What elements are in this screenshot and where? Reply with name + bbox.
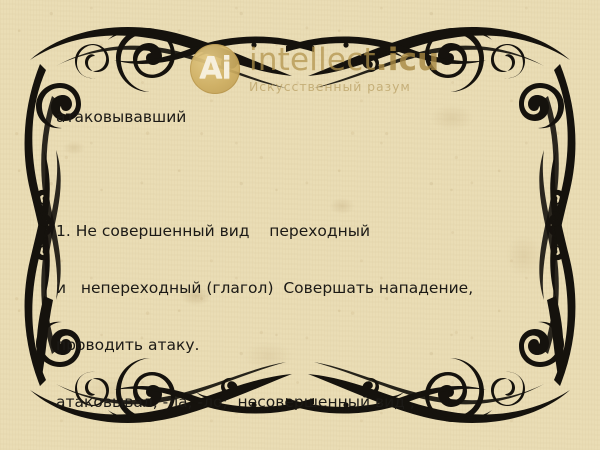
edge-ornament-left (37, 296, 53, 386)
definition-line: и непереходный (глагол) Совершать нападе… (56, 279, 556, 298)
dictionary-article: атаковывавший 1. Не совершенный вид пере… (56, 70, 556, 450)
parchment-page: Ai intellect.icu Искусственный разум ата… (0, 0, 600, 450)
definition-block: 1. Не совершенный вид переходный и непер… (56, 184, 556, 450)
definition-line: проводить атаку. (56, 336, 556, 355)
edge-ornament-top (286, 36, 486, 64)
edge-ornament-top-mirror (114, 36, 314, 64)
definition-line: 1. Не совершенный вид переходный (56, 222, 556, 241)
definition-line: атаковывал, -ла, -ло; несовершенный вид … (56, 393, 556, 412)
headword: атаковывавший (56, 108, 556, 127)
